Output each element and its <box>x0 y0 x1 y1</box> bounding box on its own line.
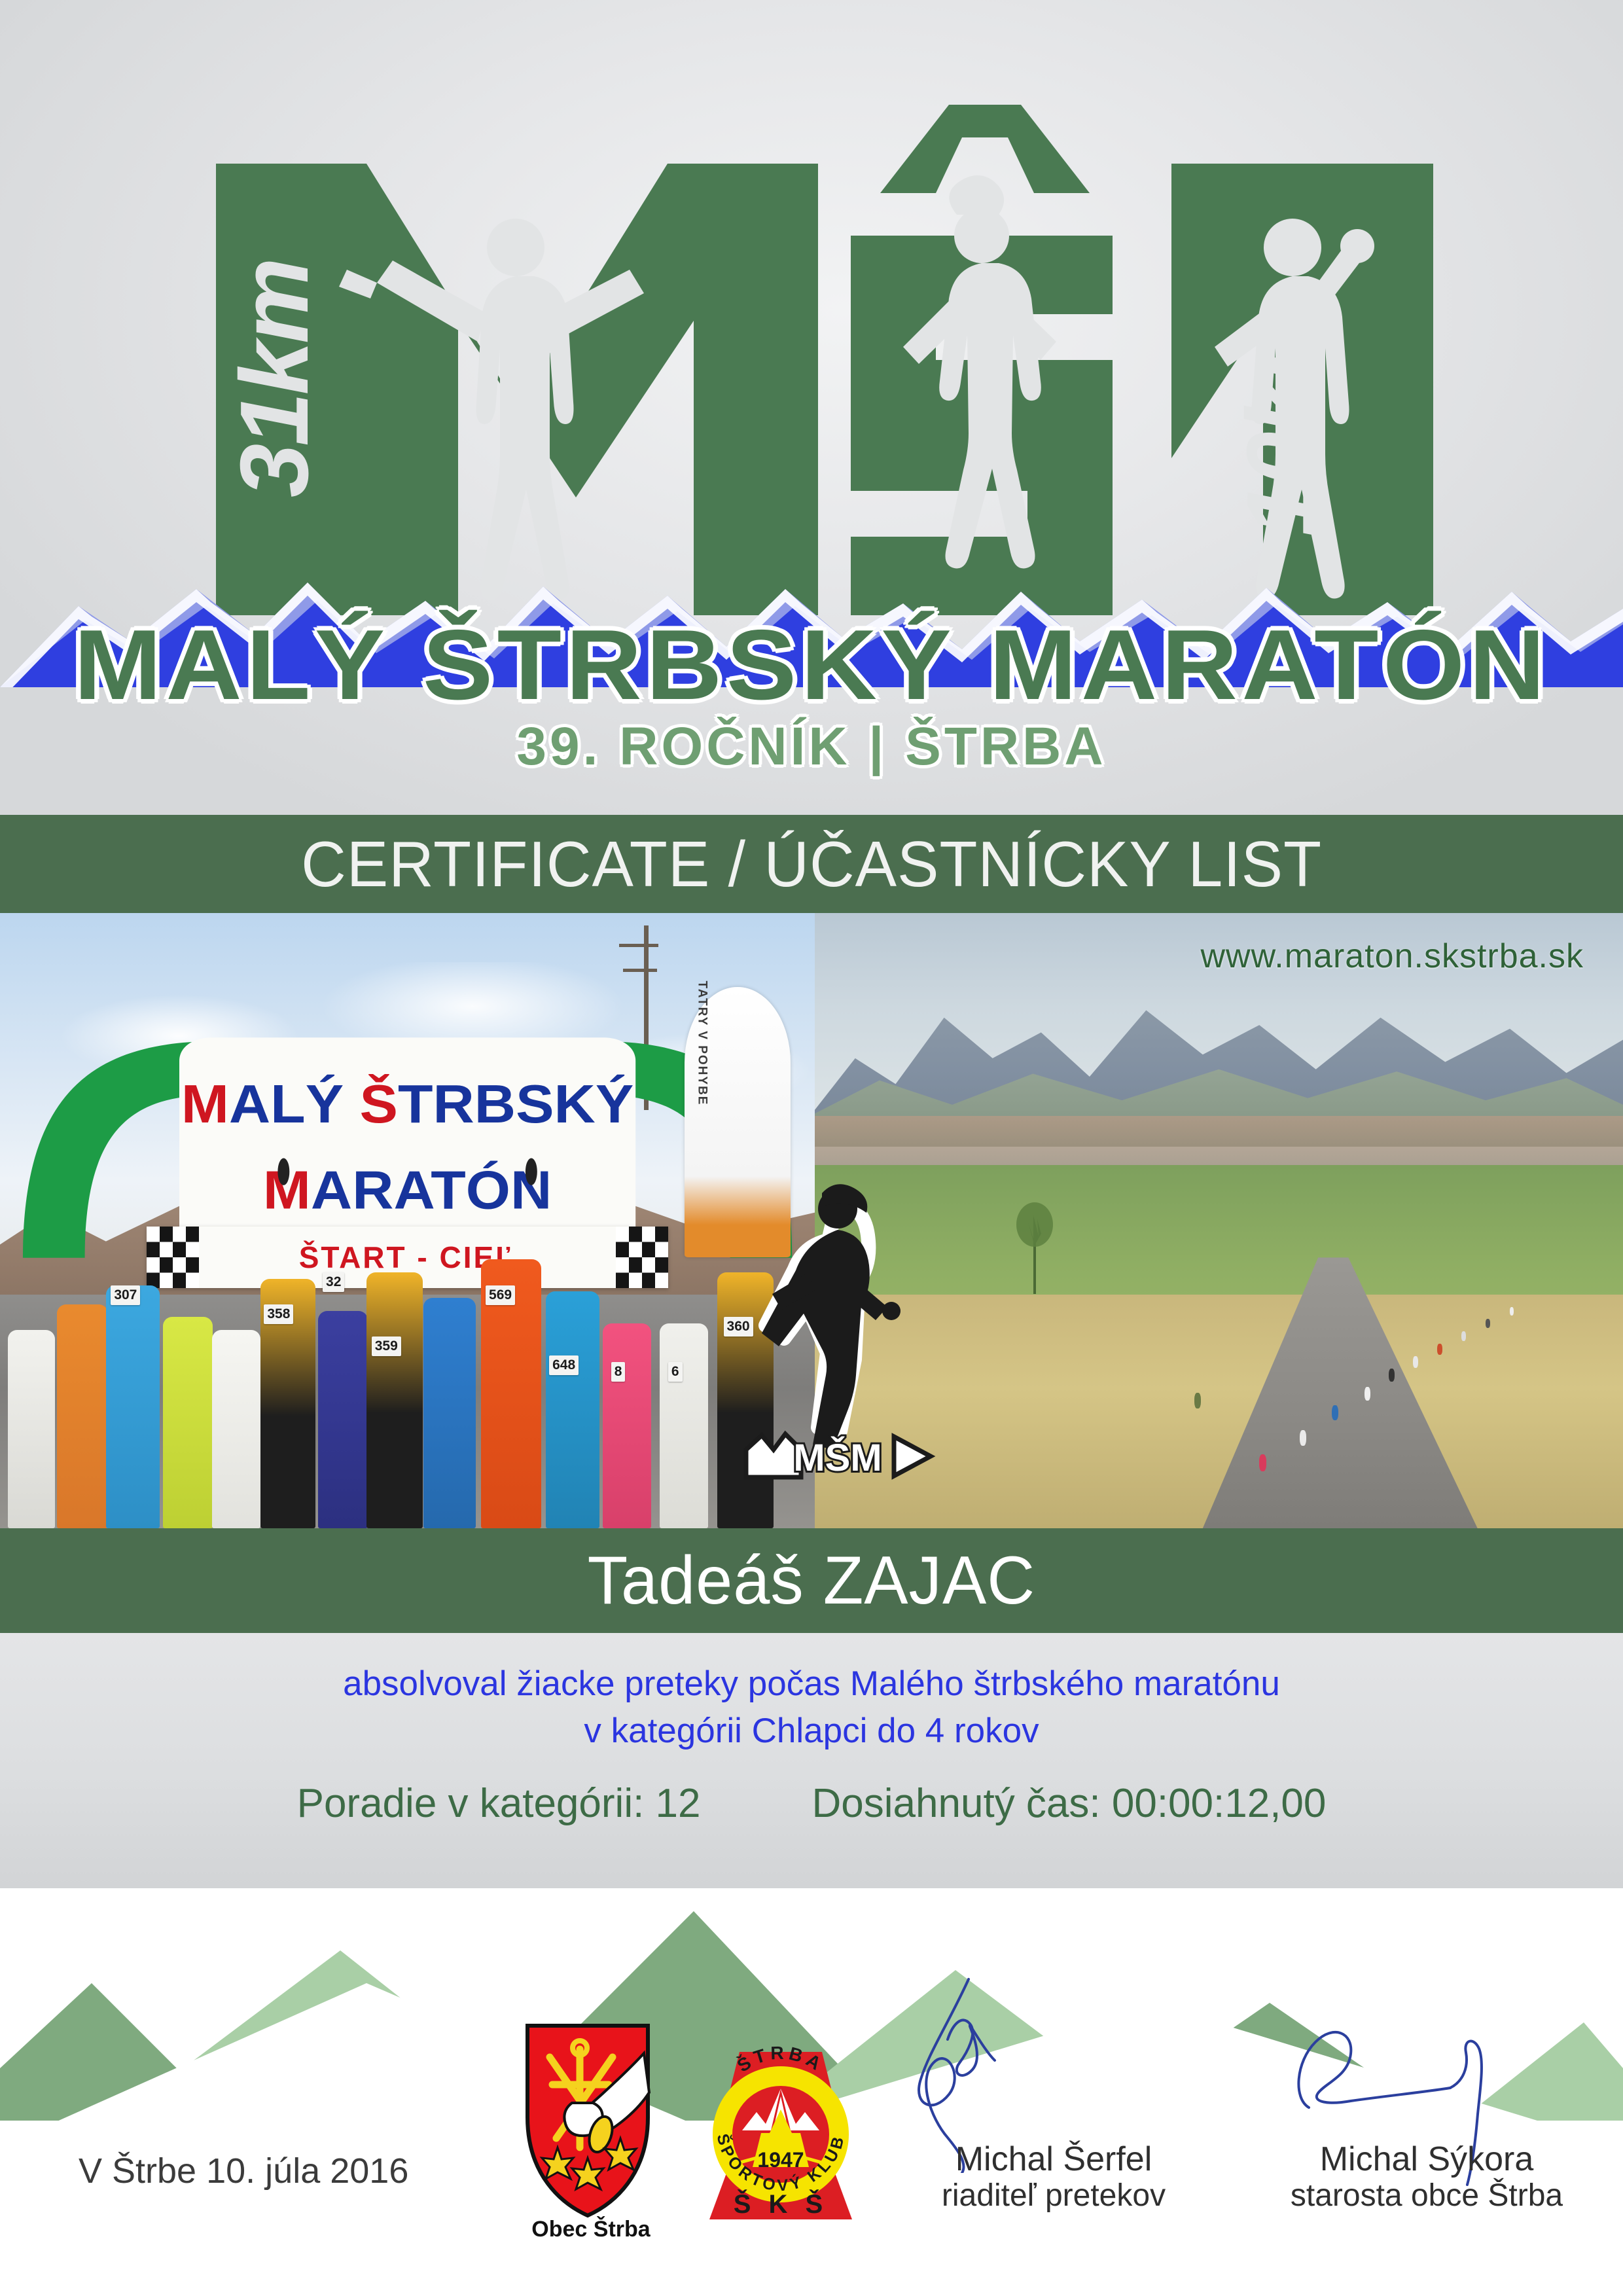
club-year: 1947 <box>757 2148 804 2172</box>
runner <box>57 1304 108 1528</box>
distant-runner <box>1332 1405 1338 1420</box>
achievement-description: absolvoval žiacke preteky počas Malého š… <box>0 1660 1623 1754</box>
photo-strip: MALÝ ŠTRBSKÝ MARATÓN ŠTART - CIEĽ TATRY … <box>0 913 1623 1528</box>
distant-runner <box>1300 1430 1306 1446</box>
place-and-date: V Štrbe 10. júla 2016 <box>79 2151 408 2191</box>
runner-crowd: 307 358 32 359 569 648 8 6 360 <box>0 1208 815 1528</box>
obec-strba-coat-of-arms: Obec Štrba <box>509 2019 673 2242</box>
runner <box>660 1323 708 1528</box>
distance-left-label: 31km <box>221 260 329 497</box>
runner <box>106 1285 160 1528</box>
hero-header: 31km 10km MŠM 31km 10km MALÝ ŠTRBSKÝ MAR… <box>0 0 1623 815</box>
signatory-role: riaditeľ pretekov <box>870 2178 1237 2214</box>
msm-wordmark-svg: 31km 10km <box>0 39 1623 615</box>
distant-spectator <box>1194 1393 1201 1408</box>
tree <box>1008 1196 1061 1294</box>
distant-runner <box>1389 1369 1395 1382</box>
distant-runner <box>1364 1387 1370 1401</box>
category-rank: Poradie v kategórii: 12 <box>297 1780 701 1827</box>
bib-number: 6 <box>668 1362 683 1382</box>
bib-number: 307 <box>111 1285 140 1305</box>
side-flag-text: TATRY V POHYBE <box>694 981 709 1106</box>
runner <box>603 1323 651 1528</box>
bib-number: 359 <box>372 1336 401 1356</box>
svg-text:31km: 31km <box>221 260 329 497</box>
distant-runner <box>1461 1331 1466 1341</box>
results-row: Poradie v kategórii: 12 Dosiahnutý čas: … <box>0 1780 1623 1827</box>
msm-logo: 31km 10km MŠM 31km 10km <box>0 39 1623 615</box>
runner <box>366 1272 423 1528</box>
bib-number: 569 <box>486 1285 515 1305</box>
distance-right-label: 10km <box>1227 299 1335 537</box>
bib-number: 358 <box>264 1304 293 1324</box>
runner <box>423 1298 476 1528</box>
description-line-1: absolvoval žiacke preteky počas Malého š… <box>343 1664 1280 1703</box>
description-line-2: v kategórii Chlapci do 4 rokov <box>0 1708 1623 1755</box>
athlete-name-banner: Tadeáš ZAJAC <box>0 1528 1623 1633</box>
runner <box>8 1330 55 1528</box>
signature-block-mayor: Michal Sýkora starosta obce Štrba <box>1230 1977 1623 2251</box>
arch-line-1: MALÝ ŠTRBSKÝ <box>181 1073 633 1134</box>
distant-runner <box>1437 1344 1442 1355</box>
certificate-body: absolvoval žiacke preteky počas Malého š… <box>0 1633 1623 1888</box>
signatory-name: Michal Sýkora <box>1230 2140 1623 2178</box>
distant-runner <box>1259 1454 1266 1471</box>
signatory-name: Michal Šerfel <box>870 2140 1237 2178</box>
signatory-role: starosta obce Štrba <box>1230 2178 1623 2214</box>
runner <box>318 1311 368 1528</box>
athlete-name: Tadeáš ZAJAC <box>588 1542 1035 1620</box>
event-title: MALÝ ŠTRBSKÝ MARATÓN <box>0 615 1623 715</box>
runner <box>163 1317 213 1528</box>
sks-club-logo: ŠTRBA ŠPORTOVÝ KLUB 1947 Š K Š <box>692 2026 869 2235</box>
bib-number: 360 <box>724 1317 753 1336</box>
bib-number: 8 <box>611 1362 626 1382</box>
club-initials: Š K Š <box>734 2189 828 2219</box>
photo-start-line: MALÝ ŠTRBSKÝ MARATÓN ŠTART - CIEĽ TATRY … <box>0 913 815 1528</box>
certificate-page: 31km 10km MŠM 31km 10km MALÝ ŠTRBSKÝ MAR… <box>0 0 1623 2296</box>
runner <box>717 1272 774 1528</box>
crest-caption: Obec Štrba <box>531 2216 651 2242</box>
event-subtitle: 39. ROČNÍK | ŠTRBA <box>0 720 1623 774</box>
website-url: www.maraton.skstrba.sk <box>1201 937 1584 976</box>
distant-runner <box>1413 1356 1418 1368</box>
distant-runner <box>1486 1319 1490 1328</box>
finish-time: Dosiahnutý čas: 00:00:12,00 <box>812 1780 1327 1827</box>
photo-landscape-road: www.maraton.skstrba.sk <box>815 913 1623 1528</box>
power-crossarm <box>619 944 658 947</box>
certificate-title: CERTIFICATE / ÚČASTNÍCKY LIST <box>301 827 1322 901</box>
bib-number: 32 <box>323 1272 344 1292</box>
certificate-banner: CERTIFICATE / ÚČASTNÍCKY LIST <box>0 815 1623 913</box>
distant-runner <box>1510 1307 1514 1316</box>
runner <box>546 1291 599 1528</box>
runner <box>212 1330 260 1528</box>
signature-block-race-director: Michal Šerfel riaditeľ pretekov <box>870 1977 1237 2251</box>
svg-text:10km: 10km <box>1227 299 1335 537</box>
bib-number: 648 <box>549 1355 579 1375</box>
